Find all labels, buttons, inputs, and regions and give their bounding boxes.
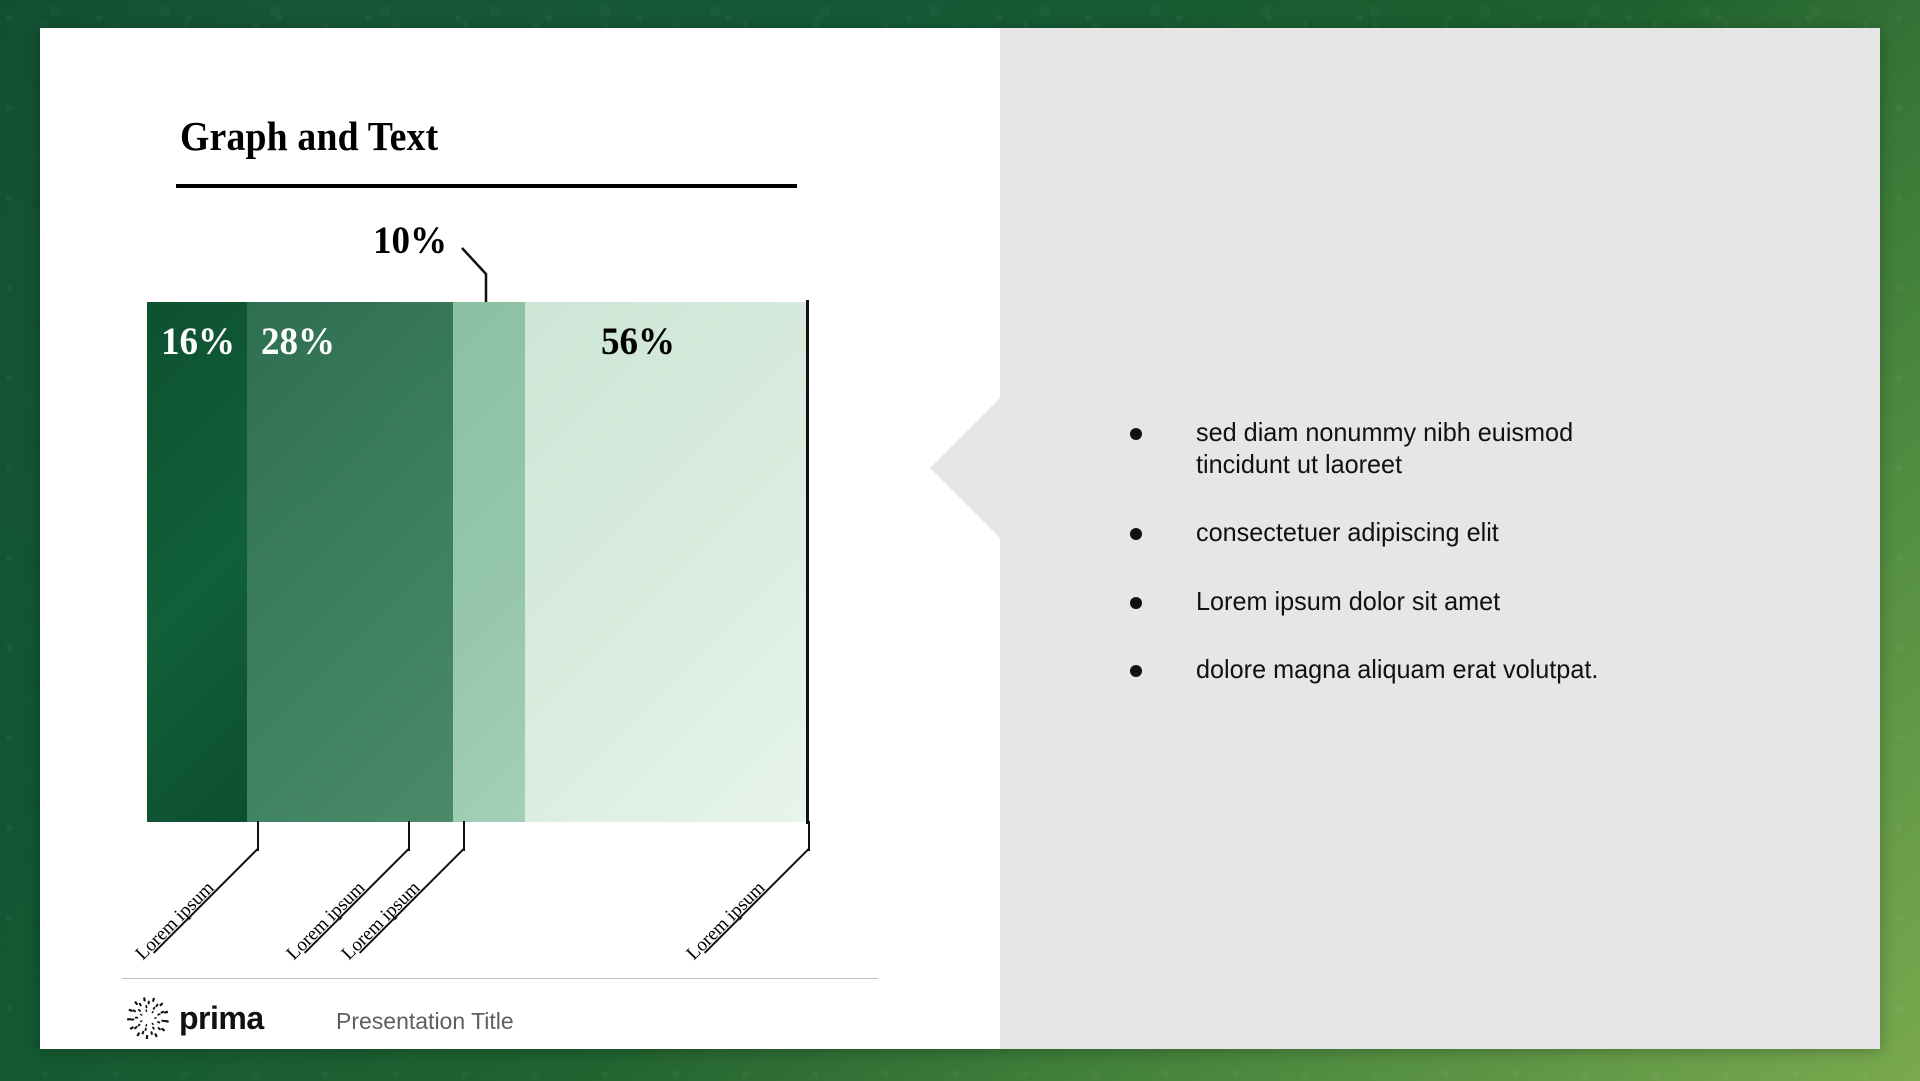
segment-callout-10: 10% [373, 218, 447, 263]
bullet-dot-icon [1130, 665, 1142, 677]
bar-segment-1[interactable]: 28% [247, 302, 453, 822]
category-label-2-text: Lorem ipsum [337, 877, 425, 965]
stacked-bar-chart: 10% 16% 28% 56% Lorem ipsum Lor [40, 28, 920, 1049]
bar-segments: 16% 28% 56% [147, 302, 807, 822]
brand-logo-text: prima [179, 1000, 264, 1037]
list-item: Lorem ipsum dolor sit amet [1130, 585, 1820, 617]
bullet-dot-icon [1130, 597, 1142, 609]
footer-divider [122, 978, 878, 979]
list-item: consectetuer adipiscing elit [1130, 516, 1820, 548]
bar-segment-1-label: 28% [261, 322, 335, 361]
bar-segment-0[interactable]: 16% [147, 302, 247, 822]
slide-canvas: Graph and Text 10% 16% 28% 56% Lorem ips… [40, 28, 1880, 1049]
bar-segment-3-label: 56% [601, 322, 675, 361]
callout-leader-line [460, 246, 520, 306]
category-label-2: Lorem ipsum [315, 821, 465, 971]
bullet-text: dolore magna aliquam erat volutpat. [1196, 653, 1598, 685]
category-label-3: Lorem ipsum [660, 821, 810, 971]
bullet-text: consectetuer adipiscing elit [1196, 516, 1499, 548]
category-label-3-text: Lorem ipsum [682, 877, 770, 965]
bullet-text: Lorem ipsum dolor sit amet [1196, 585, 1500, 617]
bar-segment-3[interactable]: 56% [525, 302, 807, 822]
bullet-dot-icon [1130, 428, 1142, 440]
bar-segment-0-label: 16% [161, 322, 235, 361]
chart-right-axis-line [806, 300, 809, 824]
bullet-list: sed diam nonummy nibh euismod tincidunt … [1130, 416, 1820, 721]
list-item: dolore magna aliquam erat volutpat. [1130, 653, 1820, 685]
sunburst-spiral-icon [126, 996, 170, 1040]
category-label-0: Lorem ipsum [109, 821, 259, 971]
category-label-0-text: Lorem ipsum [131, 877, 219, 965]
bullet-text: sed diam nonummy nibh euismod tincidunt … [1196, 416, 1652, 480]
bullet-dot-icon [1130, 528, 1142, 540]
list-item: sed diam nonummy nibh euismod tincidunt … [1130, 416, 1820, 480]
bar-segment-2[interactable] [453, 302, 525, 822]
presentation-title: Presentation Title [336, 1008, 514, 1035]
